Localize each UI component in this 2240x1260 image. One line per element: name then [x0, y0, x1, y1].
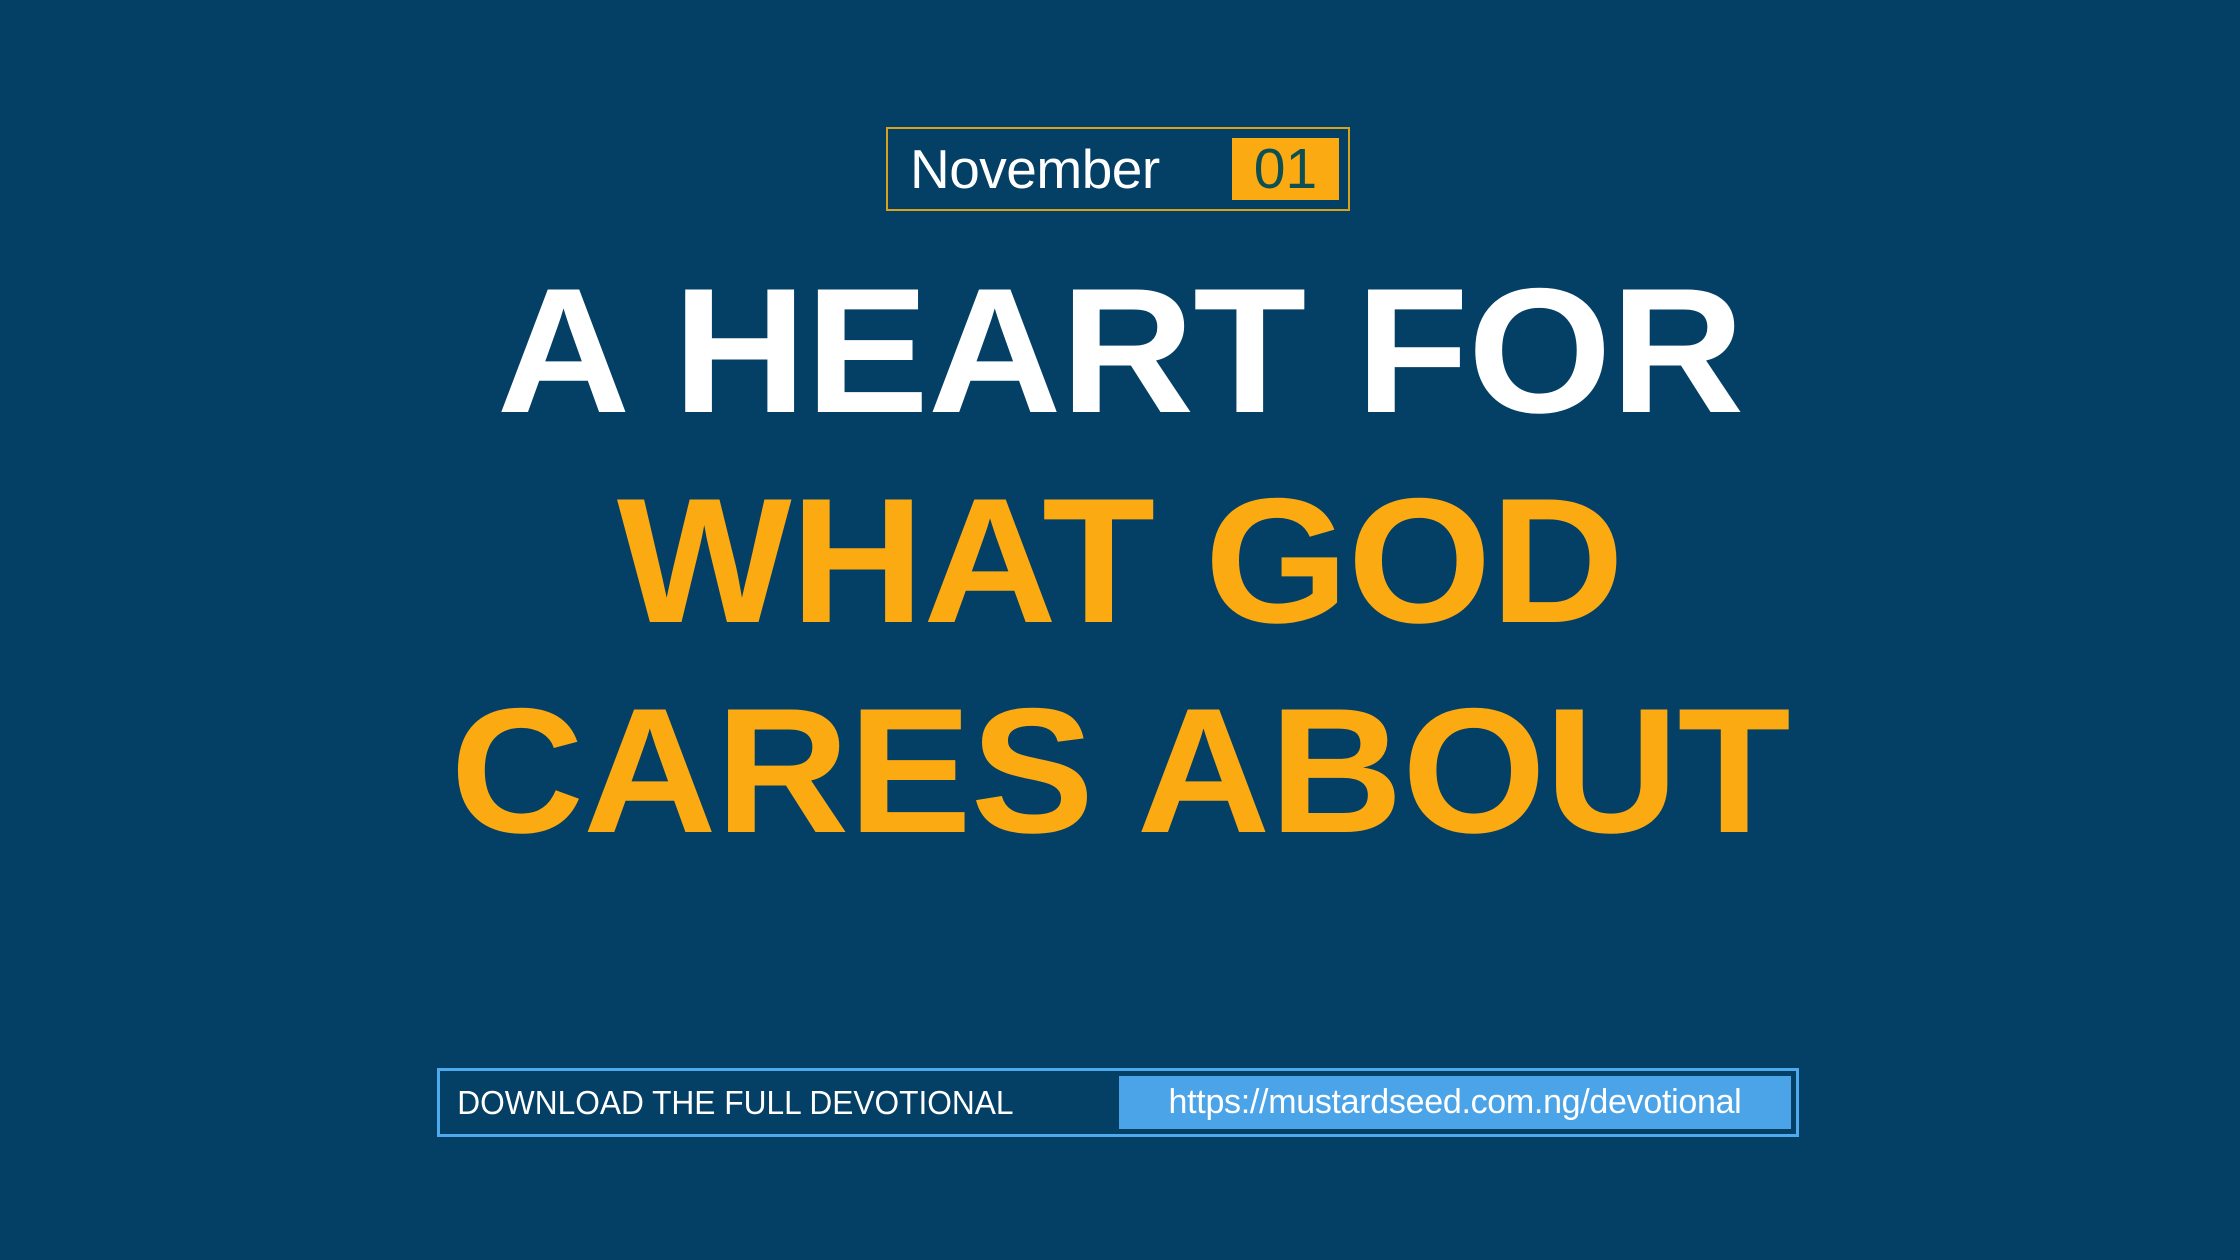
headline-line-1: A HEART FOR: [0, 262, 2240, 440]
cta-url-text[interactable]: https://mustardseed.com.ng/devotional: [1169, 1083, 1742, 1122]
download-cta-banner[interactable]: DOWNLOAD THE FULL DEVOTIONAL https://mus…: [437, 1068, 1799, 1137]
date-day-box: 01: [1232, 138, 1339, 200]
cta-label: DOWNLOAD THE FULL DEVOTIONAL: [440, 1084, 1014, 1122]
cta-url-highlight[interactable]: https://mustardseed.com.ng/devotional: [1119, 1076, 1791, 1129]
headline-block: A HEART FOR WHAT GOD CARES ABOUT: [0, 262, 2240, 860]
date-day-label: 01: [1254, 141, 1317, 198]
date-month-label: November: [888, 142, 1160, 197]
date-badge: November 01: [886, 127, 1350, 211]
headline-line-3: CARES ABOUT: [0, 682, 2240, 860]
headline-line-2: WHAT GOD: [0, 472, 2240, 650]
devotional-slide: November 01 A HEART FOR WHAT GOD CARES A…: [0, 0, 2240, 1260]
